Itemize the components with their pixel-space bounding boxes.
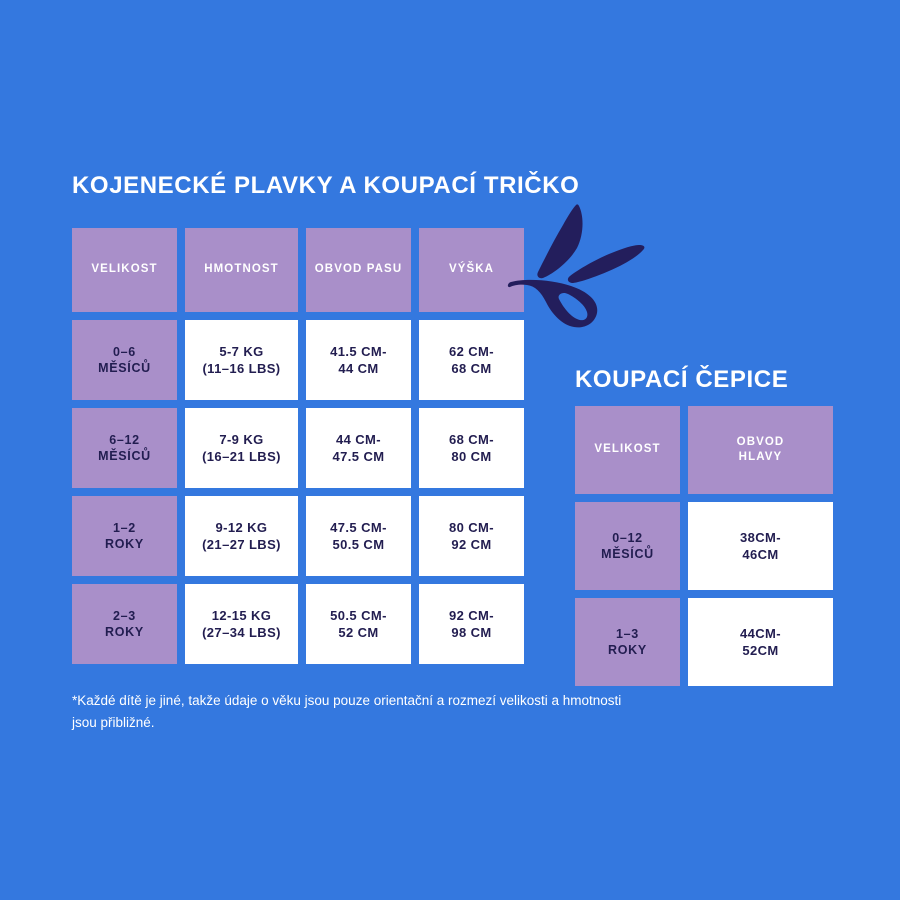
- cell-size-line2: MĚSÍCŮ: [98, 360, 151, 377]
- table-cell-height: 80 CM- 92 CM: [419, 496, 524, 576]
- swimwear-size-table: VELIKOST HMOTNOST OBVOD PASU VÝŠKA 0–6 M…: [72, 228, 524, 664]
- table-header-velikost: VELIKOST: [575, 406, 680, 494]
- cell-value-line2: (11–16 LBS): [202, 360, 280, 377]
- cell-value-line1: 62 CM-: [449, 343, 494, 360]
- table-cell-weight: 12-15 KG (27–34 LBS): [185, 584, 298, 664]
- water-splash-icon: [505, 200, 650, 335]
- table-header-velikost: VELIKOST: [72, 228, 177, 312]
- cell-value-line1: 50.5 CM-: [330, 607, 387, 624]
- cell-value-line1: 47.5 CM-: [330, 519, 387, 536]
- table-header-label-line1: OBVOD: [737, 435, 785, 450]
- table-header-label-line2: HLAVY: [737, 450, 785, 465]
- table-cell-height: 92 CM- 98 CM: [419, 584, 524, 664]
- cell-size-line1: 1–3: [608, 626, 647, 643]
- cell-value-line1: 92 CM-: [449, 607, 494, 624]
- cell-value-line2: (27–34 LBS): [202, 624, 281, 641]
- table-cell-weight: 7-9 KG (16–21 LBS): [185, 408, 298, 488]
- table-header-label: VÝŠKA: [449, 262, 494, 277]
- cell-value-line1: 41.5 CM-: [330, 343, 387, 360]
- table-header-hmotnost: HMOTNOST: [185, 228, 298, 312]
- table-header-vyska: VÝŠKA: [419, 228, 524, 312]
- cell-size-line2: ROKY: [105, 624, 144, 641]
- cell-size-line2: ROKY: [608, 642, 647, 659]
- table-row: 1–3 ROKY: [575, 598, 680, 686]
- table-cell-height: 68 CM- 80 CM: [419, 408, 524, 488]
- cell-value-line2: 98 CM: [449, 624, 494, 641]
- table-header-label: VELIKOST: [91, 262, 157, 277]
- table-cell-weight: 9-12 KG (21–27 LBS): [185, 496, 298, 576]
- table-header-label: HMOTNOST: [204, 262, 279, 277]
- table-cell-waist: 47.5 CM- 50.5 CM: [306, 496, 411, 576]
- table-cell-waist: 41.5 CM- 44 CM: [306, 320, 411, 400]
- cell-value-line2: 80 CM: [449, 448, 494, 465]
- cell-value-line2: 46CM: [740, 546, 781, 563]
- table-header-label: OBVOD PASU: [315, 262, 402, 277]
- page-title-swimcap: KOUPACÍ ČEPICE: [575, 366, 788, 394]
- cell-value-line2: 52CM: [740, 642, 781, 659]
- cell-size-line2: ROKY: [105, 536, 144, 553]
- table-header-label: VELIKOST: [594, 442, 660, 457]
- cell-value-line2: (16–21 LBS): [202, 448, 281, 465]
- cell-value-line1: 7-9 KG: [202, 431, 281, 448]
- table-row: 2–3 ROKY: [72, 584, 177, 664]
- cell-value-line2: 92 CM: [449, 536, 494, 553]
- table-cell-height: 62 CM- 68 CM: [419, 320, 524, 400]
- cell-value-line2: 50.5 CM: [330, 536, 387, 553]
- cell-value-line2: 68 CM: [449, 360, 494, 377]
- table-row: 0–12 MĚSÍCŮ: [575, 502, 680, 590]
- table-cell-weight: 5-7 KG (11–16 LBS): [185, 320, 298, 400]
- page-title-swimwear: KOJENECKÉ PLAVKY A KOUPACÍ TRIČKO: [72, 172, 579, 200]
- cell-size-line1: 0–12: [601, 530, 654, 547]
- table-row: 1–2 ROKY: [72, 496, 177, 576]
- cell-size-line1: 2–3: [105, 608, 144, 625]
- cell-value-line1: 5-7 KG: [202, 343, 280, 360]
- cell-value-line1: 9-12 KG: [202, 519, 281, 536]
- cell-size-line1: 0–6: [98, 344, 151, 361]
- table-row: 0–6 MĚSÍCŮ: [72, 320, 177, 400]
- table-cell-waist: 44 CM- 47.5 CM: [306, 408, 411, 488]
- cell-size-line2: MĚSÍCŮ: [98, 448, 151, 465]
- cell-value-line1: 44 CM-: [333, 431, 385, 448]
- cell-value-line1: 38CM-: [740, 529, 781, 546]
- table-cell-waist: 50.5 CM- 52 CM: [306, 584, 411, 664]
- table-header-obvod-pasu: OBVOD PASU: [306, 228, 411, 312]
- size-chart-canvas: KOJENECKÉ PLAVKY A KOUPACÍ TRIČKO VELIKO…: [0, 0, 900, 900]
- cell-value-line1: 12-15 KG: [202, 607, 281, 624]
- table-header-obvod-hlavy: OBVOD HLAVY: [688, 406, 833, 494]
- cell-value-line1: 68 CM-: [449, 431, 494, 448]
- cell-size-line1: 6–12: [98, 432, 151, 449]
- cell-value-line1: 44CM-: [740, 625, 781, 642]
- cell-value-line2: 44 CM: [330, 360, 387, 377]
- footnote-disclaimer: *Každé dítě je jiné, takže údaje o věku …: [72, 690, 642, 734]
- table-cell-head-circumference: 44CM- 52CM: [688, 598, 833, 686]
- cell-size-line2: MĚSÍCŮ: [601, 546, 654, 563]
- cell-value-line1: 80 CM-: [449, 519, 494, 536]
- cell-value-line2: 52 CM: [330, 624, 387, 641]
- cell-size-line1: 1–2: [105, 520, 144, 537]
- cell-value-line2: (21–27 LBS): [202, 536, 281, 553]
- swimcap-size-table: VELIKOST OBVOD HLAVY 0–12 MĚSÍCŮ 38CM- 4…: [575, 406, 833, 686]
- cell-value-line2: 47.5 CM: [333, 448, 385, 465]
- table-row: 6–12 MĚSÍCŮ: [72, 408, 177, 488]
- table-cell-head-circumference: 38CM- 46CM: [688, 502, 833, 590]
